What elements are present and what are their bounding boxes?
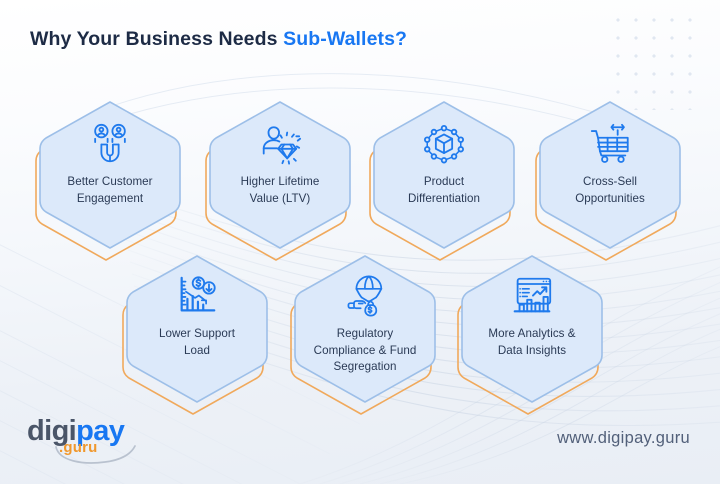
card-content: Regulatory Compliance & Fund Segregation xyxy=(292,253,438,405)
card-label-line-2: Compliance & Fund xyxy=(293,343,437,360)
website-url[interactable]: www.digipay.guru xyxy=(557,429,690,448)
card-more-analytics-data-insights[interactable]: More Analytics & Data Insights xyxy=(459,253,605,405)
card-cross-sell-opportunities[interactable]: Cross-Sell Opportunities xyxy=(537,99,683,251)
card-better-customer-engagement[interactable]: Better Customer Engagement xyxy=(37,99,183,251)
card-label-line-1: Better Customer xyxy=(41,174,179,191)
card-label-line-2: Opportunities xyxy=(541,191,679,208)
card-label-line-2: Load xyxy=(125,343,269,360)
page-title-plain: Why Your Business Needs xyxy=(30,28,283,50)
card-label: Better Customer Engagement xyxy=(41,174,179,207)
analytics-dashboard-icon xyxy=(509,273,555,319)
card-label-line-2: Value (LTV) xyxy=(211,191,349,208)
card-label-line-2: Differentiation xyxy=(375,191,513,208)
card-higher-lifetime-value[interactable]: Higher Lifetime Value (LTV) xyxy=(207,99,353,251)
card-content: Higher Lifetime Value (LTV) xyxy=(207,99,353,251)
card-label-line-1: More Analytics & xyxy=(460,326,604,343)
card-label-line-2: Data Insights xyxy=(460,343,604,360)
card-label: Higher Lifetime Value (LTV) xyxy=(211,174,349,207)
card-label: Lower Support Load xyxy=(125,326,269,359)
card-label: More Analytics & Data Insights xyxy=(460,326,604,359)
parachute-money-bag-icon xyxy=(342,273,388,319)
digipay-logo[interactable]: digipay .guru xyxy=(27,415,147,463)
card-label: Cross-Sell Opportunities xyxy=(541,174,679,207)
card-regulatory-compliance[interactable]: Regulatory Compliance & Fund Segregation xyxy=(292,253,438,405)
card-label-line-3: Segregation xyxy=(293,359,437,376)
card-label-line-1: Regulatory xyxy=(293,326,437,343)
card-label-line-1: Cross-Sell xyxy=(541,174,679,191)
declining-bar-chart-dollar-icon xyxy=(174,273,220,319)
person-diamond-icon xyxy=(257,121,303,167)
card-label: Regulatory Compliance & Fund Segregation xyxy=(293,326,437,376)
shopping-cart-arrows-icon xyxy=(587,121,633,167)
page-title-accent: Sub-Wallets? xyxy=(283,28,407,50)
card-content: Cross-Sell Opportunities xyxy=(537,99,683,251)
card-lower-support-load[interactable]: Lower Support Load xyxy=(124,253,270,405)
logo-guru-text: .guru xyxy=(59,439,98,456)
card-content: More Analytics & Data Insights xyxy=(459,253,605,405)
card-label-line-1: Lower Support xyxy=(125,326,269,343)
page-title: Why Your Business Needs Sub-Wallets? xyxy=(30,28,407,51)
card-content: Better Customer Engagement xyxy=(37,99,183,251)
cube-network-icon xyxy=(421,121,467,167)
infographic-canvas: Why Your Business Needs Sub-Wallets? xyxy=(0,0,720,484)
card-label-line-2: Engagement xyxy=(41,191,179,208)
dot-grid-decoration xyxy=(616,18,702,110)
card-product-differentiation[interactable]: Product Differentiation xyxy=(371,99,517,251)
card-label-line-1: Higher Lifetime xyxy=(211,174,349,191)
card-content: Product Differentiation xyxy=(371,99,517,251)
card-label: Product Differentiation xyxy=(375,174,513,207)
magnet-customers-icon xyxy=(87,121,133,167)
card-content: Lower Support Load xyxy=(124,253,270,405)
card-label-line-1: Product xyxy=(375,174,513,191)
